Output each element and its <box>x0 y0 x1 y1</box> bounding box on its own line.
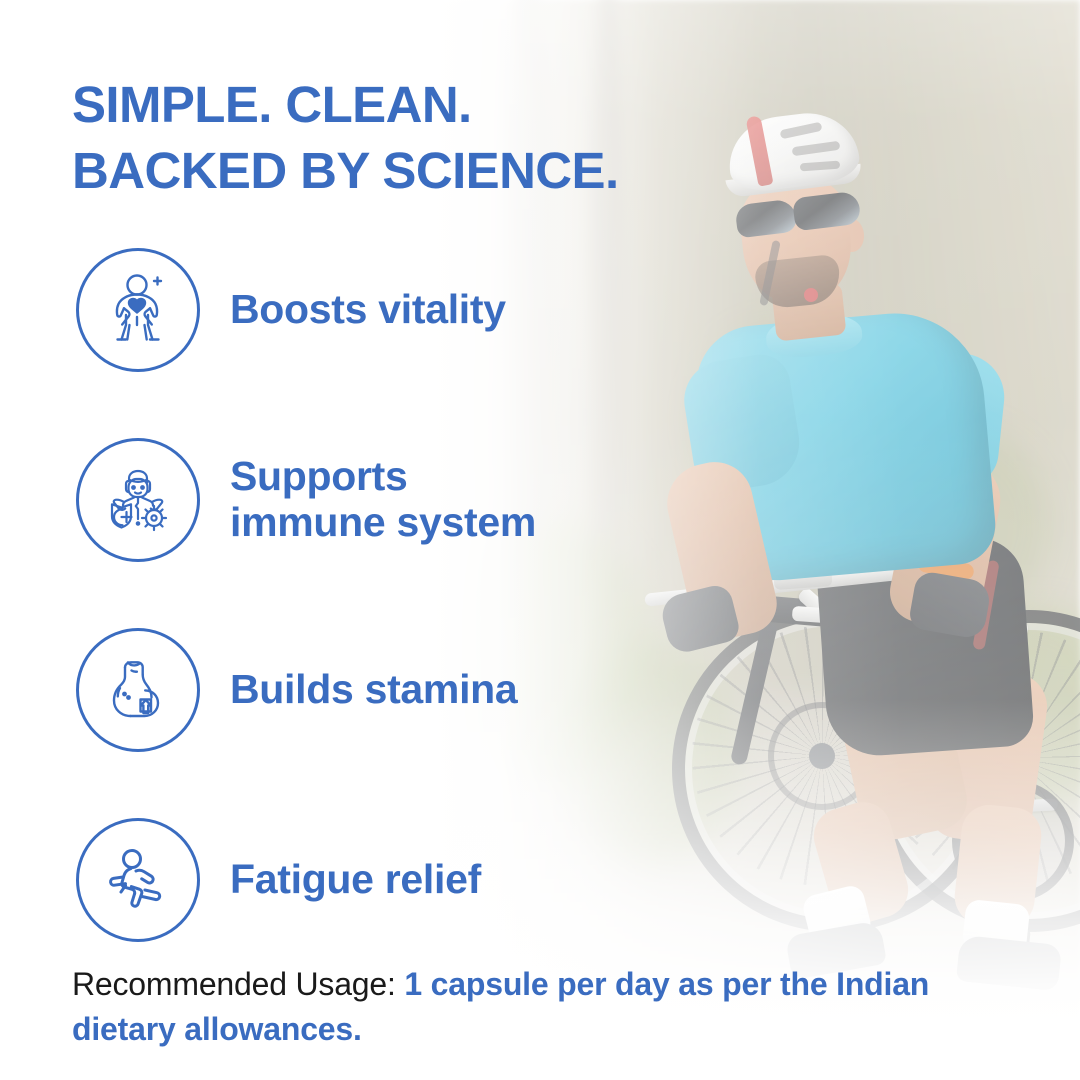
person-heart-vitality-icon <box>76 248 200 372</box>
benefit-item-immunity: Supports immune system <box>76 405 636 595</box>
benefits-list: Boosts vitality <box>76 215 636 975</box>
benefit-item-vitality: Boosts vitality <box>76 215 636 405</box>
benefit-item-fatigue: Fatigue relief <box>76 785 636 975</box>
flexed-bicep-arrow-up-icon <box>76 628 200 752</box>
benefit-label: Boosts vitality <box>230 287 506 333</box>
benefit-label: Builds stamina <box>230 667 517 713</box>
recommended-usage: Recommended Usage: 1 capsule per day as … <box>72 962 952 1053</box>
promo-banner: SIMPLE. CLEAN. BACKED BY SCIENCE. <box>0 0 1080 1080</box>
running-person-icon <box>76 818 200 942</box>
content-layer: SIMPLE. CLEAN. BACKED BY SCIENCE. <box>0 0 1080 1080</box>
benefit-item-stamina: Builds stamina <box>76 595 636 785</box>
benefit-label: Fatigue relief <box>230 857 481 903</box>
benefit-label: Supports immune system <box>230 454 536 546</box>
usage-label: Recommended Usage: <box>72 966 396 1002</box>
immunity-shield-virus-icon <box>76 438 200 562</box>
headline: SIMPLE. CLEAN. BACKED BY SCIENCE. <box>72 72 619 205</box>
